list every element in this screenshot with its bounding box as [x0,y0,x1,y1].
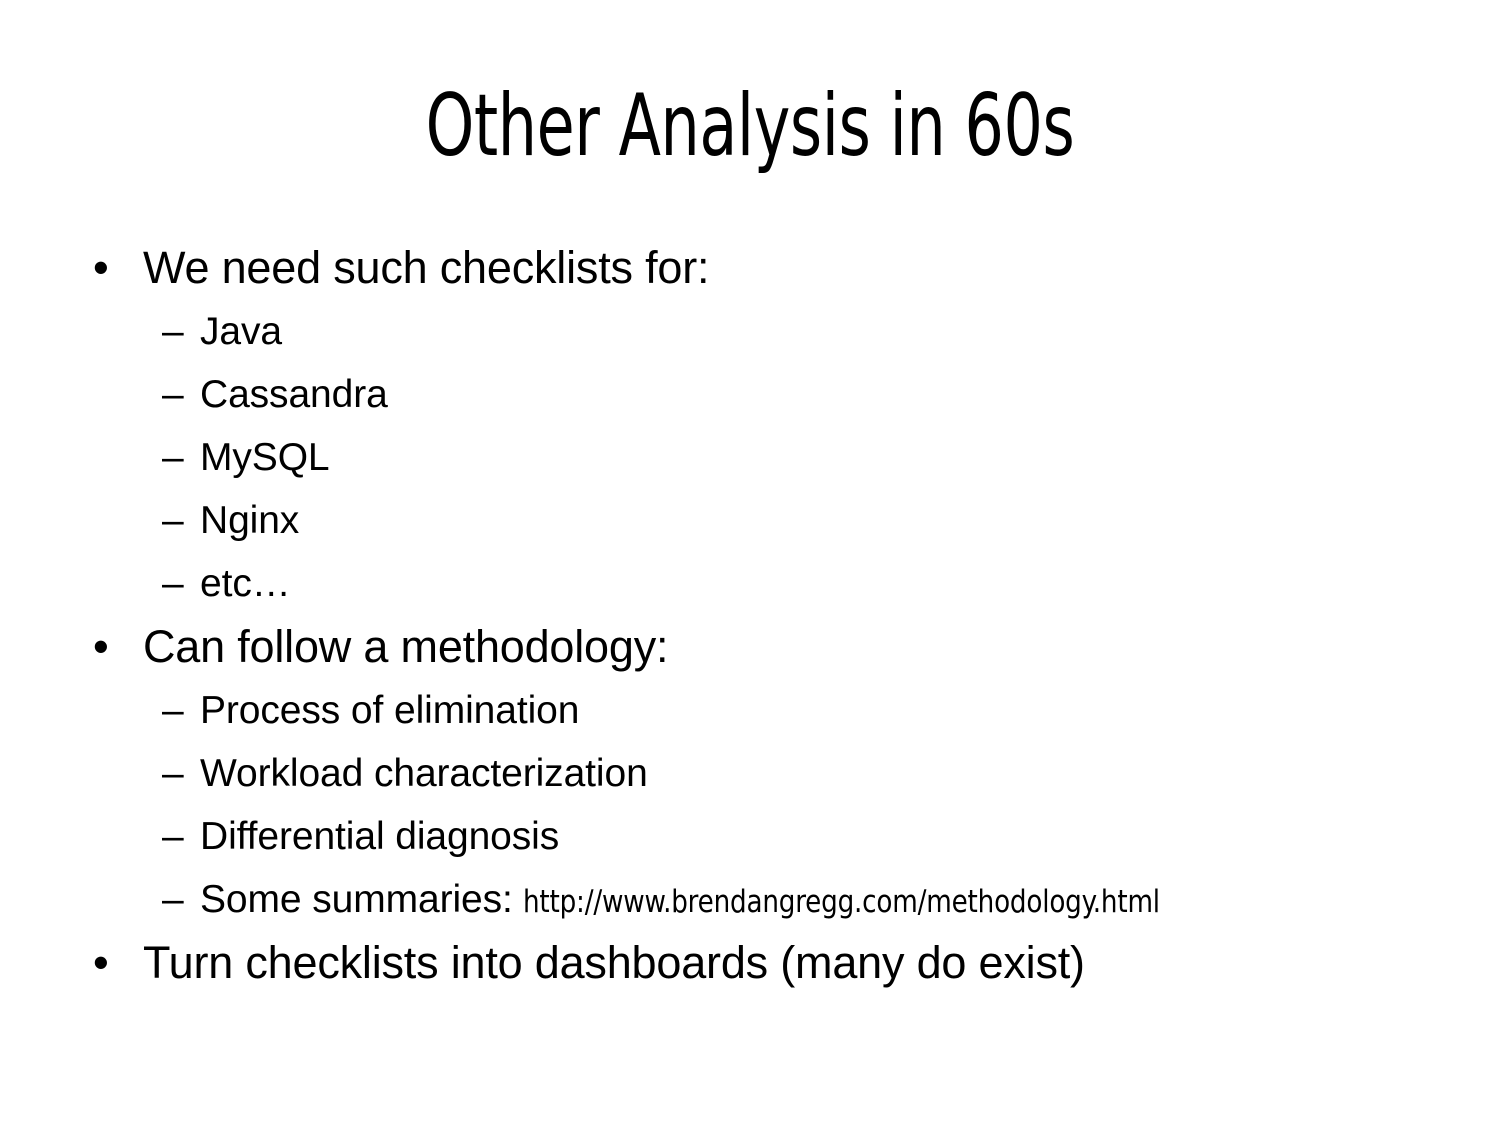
bullet-marker-level2: – [162,552,196,615]
slide-body: • We need such checklists for: – Java – … [0,236,1500,995]
list-item: – MySQL [0,426,1500,489]
list-item: – Nginx [0,489,1500,552]
list-item: – Workload characterization [0,742,1500,805]
page-title: Other Analysis in 60s [150,78,1350,174]
list-item-label: We need such checklists for: [143,236,709,300]
list-item: – etc… [0,552,1500,615]
list-item-label: Nginx [200,489,299,552]
methodology-url-link[interactable]: http://www.brendangregg.com/methodology.… [523,871,1160,934]
list-item-label: Java [200,300,282,363]
list-item: • Turn checklists into dashboards (many … [0,931,1500,995]
bullet-marker-level2: – [162,805,196,868]
bullet-marker-level2: – [162,868,196,931]
bullet-marker-level2: – [162,679,196,742]
list-item-label: Can follow a methodology: [143,615,668,679]
list-item-label: Some summaries: http://www.brendangregg.… [200,868,1201,934]
list-item: – Process of elimination [0,679,1500,742]
list-item-label: Turn checklists into dashboards (many do… [143,931,1085,995]
bullet-marker-level1: • [93,236,123,300]
bullet-marker-level2: – [162,300,196,363]
list-item: – Some summaries: http://www.brendangreg… [0,868,1500,931]
list-item-label: Process of elimination [200,679,579,742]
list-item: – Differential diagnosis [0,805,1500,868]
list-item: – Java [0,300,1500,363]
list-item-label: Workload characterization [200,742,648,805]
bullet-marker-level2: – [162,426,196,489]
bullet-marker-level2: – [162,742,196,805]
list-item-label: Cassandra [200,363,388,426]
list-item: – Cassandra [0,363,1500,426]
list-item: • We need such checklists for: [0,236,1500,300]
bullet-marker-level2: – [162,363,196,426]
bullet-marker-level1: • [93,615,123,679]
list-item-text: Some summaries: [200,878,523,921]
bullet-marker-level2: – [162,489,196,552]
list-item-label: etc… [200,552,291,615]
slide: Other Analysis in 60s • We need such che… [0,0,1500,1125]
list-item: • Can follow a methodology: [0,615,1500,679]
list-item-label: Differential diagnosis [200,805,559,868]
bullet-marker-level1: • [93,931,123,995]
list-item-label: MySQL [200,426,330,489]
